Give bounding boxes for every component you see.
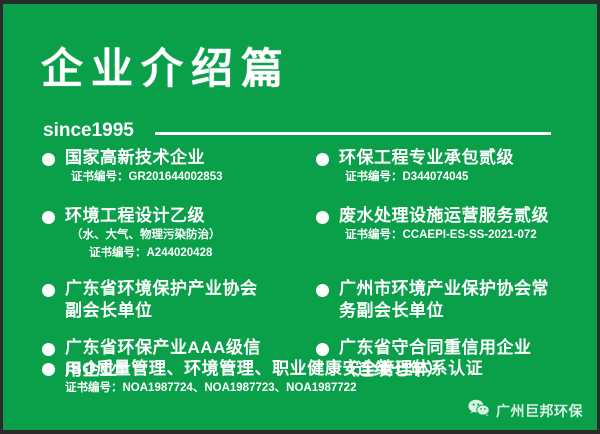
credential-title: 广东省环境保护产业协会 副会长单位 xyxy=(65,278,258,323)
list-item: 广东省环境保护产业协会 副会长单位 xyxy=(39,278,258,323)
credential-title: 广州市环境产业保护协会常 务副会长单位 xyxy=(339,278,549,323)
credential-certificate-number: 证书编号：GR201644002853 xyxy=(65,169,223,186)
list-item: 环保工程专业承包贰级 证书编号：D344074045 xyxy=(313,147,514,187)
credential-certificate-number: 证书编号：NOA1987724、NOA1987723、NOA1987722 xyxy=(65,379,579,397)
credential-title: 国家高新技术企业 xyxy=(65,147,223,169)
list-item: 环境工程设计乙级 （水、大气、物理污染防治） 证书编号：A244020428 xyxy=(39,205,221,262)
wechat-icon xyxy=(468,399,490,422)
list-item: 广州市环境产业保护协会常 务副会长单位 xyxy=(313,278,549,323)
list-item: 废水处理设施运营服务贰级 证书编号：CCAEPI-ES-SS-2021-072 xyxy=(313,205,549,245)
watermark: 广州巨邦环保 xyxy=(468,399,583,422)
bullet-icon xyxy=(42,343,55,356)
since-label: since1995 xyxy=(43,120,134,142)
bullet-icon xyxy=(42,211,55,224)
since-row: since1995 xyxy=(43,120,553,142)
page-title: 企业介绍篇 xyxy=(41,48,291,90)
bullet-icon xyxy=(316,284,329,297)
bullet-icon xyxy=(42,153,55,166)
horizontal-rule xyxy=(155,132,551,135)
watermark-label: 广州巨邦环保 xyxy=(496,404,583,418)
bullet-icon xyxy=(42,363,55,376)
poster-canvas: 企业介绍篇 since1995 国家高新技术企业 证书编号：GR20164400… xyxy=(0,0,600,434)
iso-credential-row: ISO质量管理、环境管理、职业健康安全管理体系认证 证书编号：NOA198772… xyxy=(39,359,579,398)
bullet-icon xyxy=(316,211,329,224)
credential-scope-note: （水、大气、物理污染防治） xyxy=(65,227,221,244)
credential-certificate-number: 证书编号：A244020428 xyxy=(65,245,221,262)
credential-title: 废水处理设施运营服务贰级 xyxy=(339,205,549,227)
credential-certificate-number: 证书编号：CCAEPI-ES-SS-2021-072 xyxy=(339,227,549,244)
bullet-icon xyxy=(42,284,55,297)
bullet-icon xyxy=(316,153,329,166)
credential-certificate-number: 证书编号：D344074045 xyxy=(339,169,514,186)
credential-title: ISO质量管理、环境管理、职业健康安全管理体系认证 xyxy=(65,359,579,379)
credential-title: 环境工程设计乙级 xyxy=(65,205,221,227)
credential-title: 环保工程专业承包贰级 xyxy=(339,147,514,169)
bullet-icon xyxy=(316,343,329,356)
list-item: 国家高新技术企业 证书编号：GR201644002853 xyxy=(39,147,223,187)
